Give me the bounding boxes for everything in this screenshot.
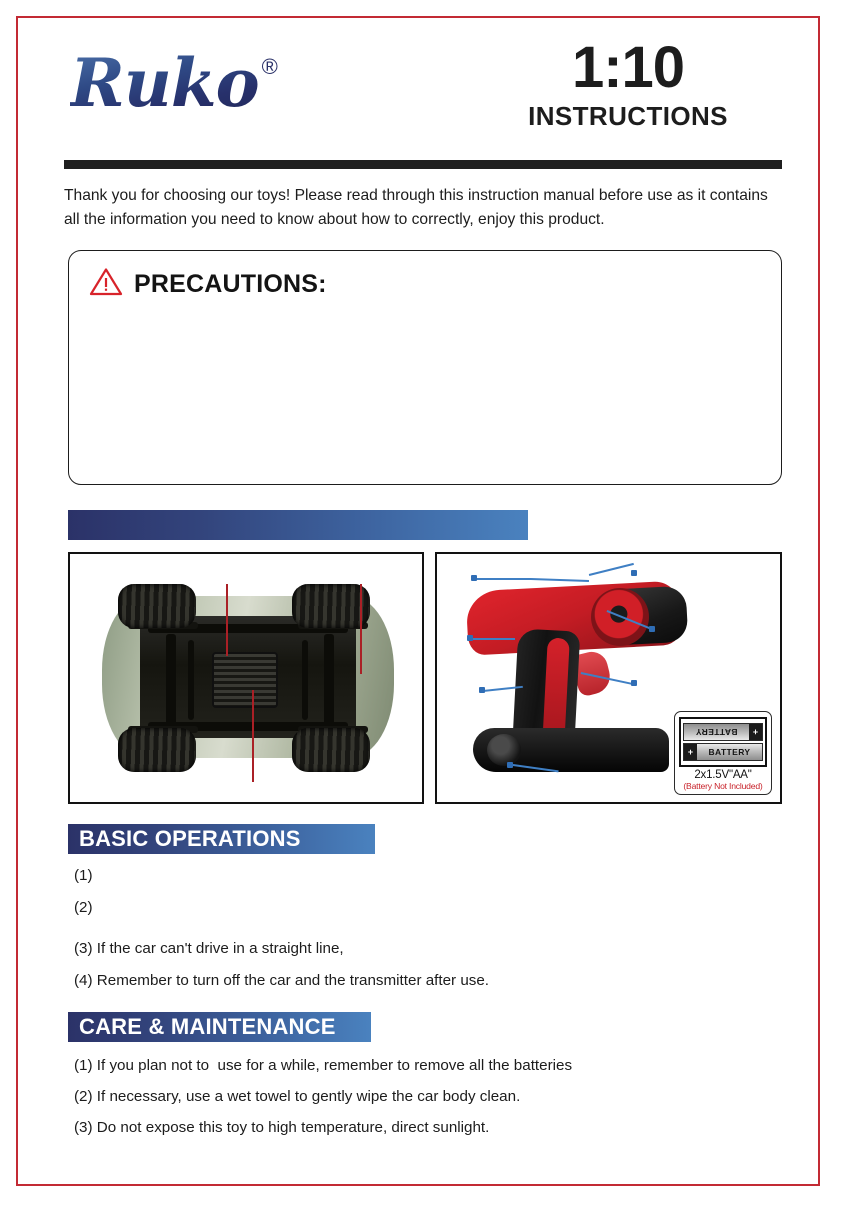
battery-plus-terminal: + <box>684 744 697 760</box>
care-maintenance-list: (1) If you plan not to use for a while, … <box>74 1056 782 1139</box>
section-header-care-maintenance: CARE & MAINTENANCE <box>68 1012 371 1042</box>
document-type-label: INSTRUCTIONS <box>478 101 778 132</box>
precautions-header: PRECAUTIONS: <box>89 267 761 302</box>
brand-logo-text: Ruko <box>70 50 259 116</box>
intro-paragraph: Thank you for choosing our toys! Please … <box>64 184 776 232</box>
scale-ratio: 1:10 <box>478 40 778 97</box>
rc-transmitter-illustration <box>457 568 707 794</box>
battery-plus-terminal: + <box>749 724 762 740</box>
list-item: (3) If the car can't drive in a straight… <box>74 939 782 960</box>
registered-trademark-icon: ® <box>262 54 278 80</box>
car-figure-panel <box>68 552 424 804</box>
car-leader-line-3 <box>252 690 254 782</box>
scale-block: 1:10 INSTRUCTIONS <box>478 40 778 132</box>
list-item: (2) If necessary, use a wet towel to gen… <box>74 1087 782 1108</box>
battery-cell-label: BATTERY <box>697 747 762 757</box>
car-leader-line-2 <box>360 584 362 674</box>
list-item: (2) <box>74 898 782 919</box>
battery-requirement-inset: + BATTERY + BATTERY 2x1.5V"AA" (Battery … <box>674 711 772 795</box>
warning-triangle-icon <box>89 267 123 302</box>
precautions-box: PRECAUTIONS: <box>68 250 782 485</box>
rc-car-chassis-illustration <box>92 576 404 781</box>
battery-cell-bottom: + BATTERY <box>683 743 763 761</box>
car-leader-line-1 <box>226 584 228 656</box>
battery-not-included-note: (Battery Not Included) <box>679 781 767 791</box>
section-divider-bar <box>68 510 528 540</box>
battery-spec-text: 2x1.5V"AA" <box>679 769 767 781</box>
list-item: (1) <box>74 866 782 887</box>
battery-cell-top: + BATTERY <box>683 723 763 741</box>
battery-stack-graphic: + BATTERY + BATTERY <box>679 717 767 767</box>
list-item: (3) Do not expose this toy to high tempe… <box>74 1118 782 1139</box>
basic-operations-list: (1) (2) (3) If the car can't drive in a … <box>74 866 782 992</box>
figure-panels-row: + BATTERY + BATTERY 2x1.5V"AA" (Battery … <box>68 552 782 804</box>
document-header: Ruko ® 1:10 INSTRUCTIONS <box>64 36 782 158</box>
header-divider-rule <box>64 160 782 169</box>
section-header-basic-operations: BASIC OPERATIONS <box>68 824 375 854</box>
list-item: (1) If you plan not to use for a while, … <box>74 1056 782 1077</box>
battery-cell-label: BATTERY <box>684 727 749 737</box>
document-content: Ruko ® 1:10 INSTRUCTIONS Thank you for c… <box>64 36 782 1149</box>
steering-wheel-icon <box>591 588 649 646</box>
list-item: (4) Remember to turn off the car and the… <box>74 971 782 992</box>
brand-logo: Ruko ® <box>70 50 278 116</box>
precautions-title: PRECAUTIONS: <box>134 270 327 299</box>
transmitter-figure-panel: + BATTERY + BATTERY 2x1.5V"AA" (Battery … <box>435 552 782 804</box>
